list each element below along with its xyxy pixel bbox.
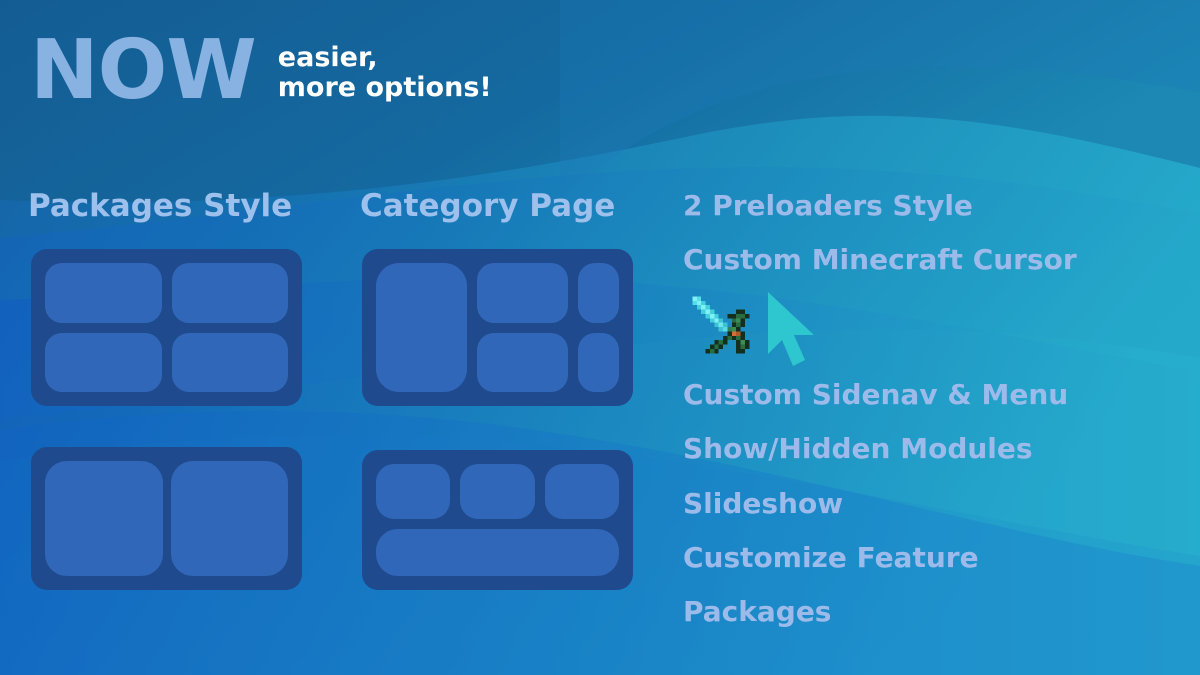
feature-item-sidenav-menu: Custom Sidenav & Menu bbox=[683, 379, 1068, 411]
mockup-packages-grid[interactable] bbox=[31, 249, 302, 406]
mockup-tile bbox=[376, 464, 450, 519]
mockup-tile-wide bbox=[376, 529, 619, 576]
arrow-cursor-icon[interactable] bbox=[762, 290, 824, 370]
mockup-category-grid[interactable] bbox=[362, 249, 633, 406]
header: NOW easier, more options! bbox=[30, 30, 492, 112]
mockup-tile bbox=[477, 333, 568, 393]
feature-item-minecraft-cursor: Custom Minecraft Cursor bbox=[683, 244, 1077, 276]
now-logo: NOW bbox=[30, 30, 256, 112]
mockup-tile bbox=[172, 263, 289, 323]
heading-packages-style: Packages Style bbox=[28, 189, 292, 223]
mockup-tile bbox=[45, 461, 163, 576]
promo-banner: NOW easier, more options! Packages Style… bbox=[0, 0, 1200, 675]
mockup-tile bbox=[45, 263, 162, 323]
feature-item-packages: Packages bbox=[683, 596, 831, 628]
minecraft-diamond-sword-icon bbox=[688, 292, 758, 362]
mockup-tile bbox=[460, 464, 534, 519]
mockup-tile bbox=[171, 461, 289, 576]
mockup-tile-sidebar bbox=[376, 263, 467, 392]
feature-item-customize-feature: Customize Feature bbox=[683, 542, 979, 574]
mockup-tile bbox=[172, 333, 289, 393]
mockup-tile bbox=[578, 263, 619, 323]
mockup-tile bbox=[578, 333, 619, 393]
mockup-tile bbox=[477, 263, 568, 323]
feature-item-slideshow: Slideshow bbox=[683, 488, 843, 520]
mockup-category-list[interactable] bbox=[362, 450, 633, 590]
heading-category-page: Category Page bbox=[360, 189, 615, 223]
tagline-line-2: more options! bbox=[278, 73, 492, 103]
tagline: easier, more options! bbox=[278, 30, 492, 103]
feature-item-show-hidden-modules: Show/Hidden Modules bbox=[683, 433, 1033, 465]
tagline-line-1: easier, bbox=[278, 43, 492, 73]
mockup-tile bbox=[45, 333, 162, 393]
feature-item-preloaders: 2 Preloaders Style bbox=[683, 190, 973, 222]
mockup-tile bbox=[545, 464, 619, 519]
mockup-packages-two-column[interactable] bbox=[31, 447, 302, 590]
minecraft-icon-group bbox=[688, 292, 848, 374]
